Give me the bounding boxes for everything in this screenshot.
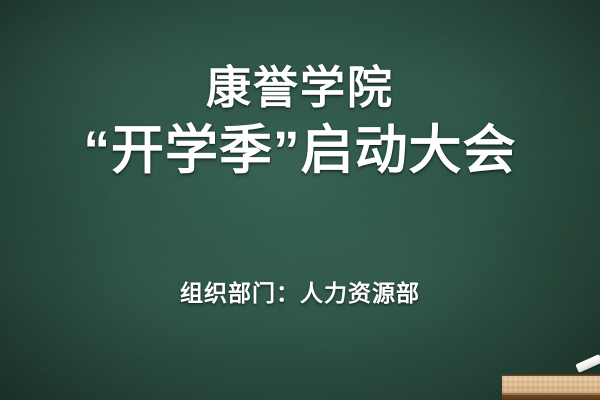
- chalk-ledge: [502, 374, 600, 400]
- chalkboard-slide: 康誉学院 “开学季”启动大会 组织部门：人力资源部: [0, 0, 600, 400]
- title-line-2: “开学季”启动大会: [0, 120, 600, 181]
- slide-subtitle: 组织部门：人力资源部: [0, 274, 600, 308]
- ledge-base: [502, 395, 600, 400]
- slide-title: 康誉学院 “开学季”启动大会: [0, 62, 600, 182]
- ledge-wood-face: [502, 376, 600, 393]
- title-line-1: 康誉学院: [0, 62, 600, 114]
- slide-content: 康誉学院 “开学季”启动大会 组织部门：人力资源部: [0, 0, 600, 400]
